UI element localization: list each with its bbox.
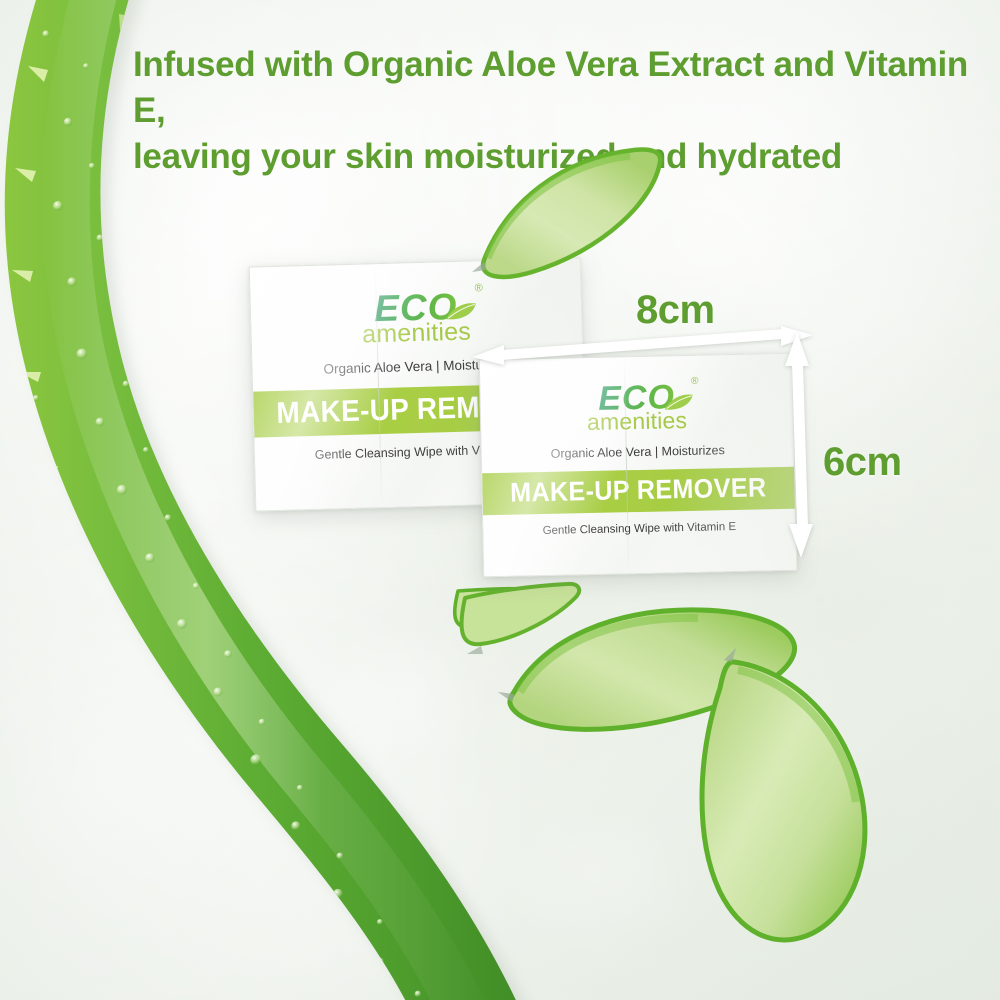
width-dimension-label: 8cm xyxy=(636,288,715,333)
packet-product-band-front: MAKE-UP REMOVER xyxy=(482,467,795,516)
brand-name-secondary: amenities xyxy=(587,409,688,434)
packet-subtitle-front: Gentle Cleansing Wipe with Vitamin E xyxy=(543,521,737,537)
packet-content-front: ECO ® amenities Organic Aloe Vera | Mois… xyxy=(480,354,796,576)
registered-trademark-icon: ® xyxy=(474,283,482,294)
packet-tagline-front: Organic Aloe Vera | Moisturizes xyxy=(551,443,725,461)
registered-trademark-icon: ® xyxy=(691,377,699,387)
product-packet-front[interactable]: ECO ® amenities Organic Aloe Vera | Mois… xyxy=(479,353,797,578)
height-dimension-label: 6cm xyxy=(823,440,902,485)
page-title: Infused with Organic Aloe Vera Extract a… xyxy=(133,42,993,181)
product-marketing-image: Infused with Organic Aloe Vera Extract a… xyxy=(0,0,1000,1000)
brand-logo-front: ECO ® amenities xyxy=(586,380,687,434)
packet-product-name-front: MAKE-UP REMOVER xyxy=(510,473,767,509)
